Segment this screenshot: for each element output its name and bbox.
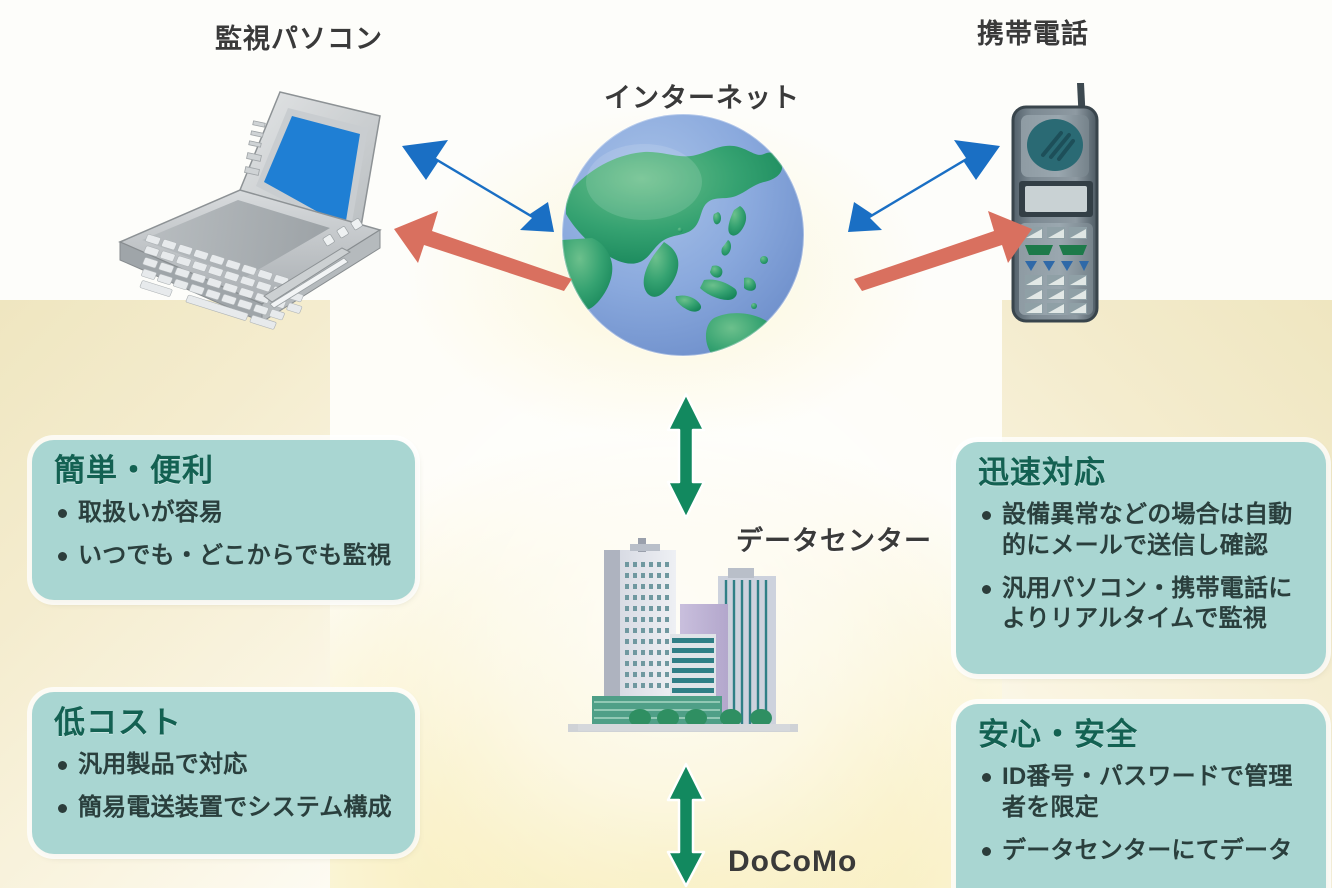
list-item: 汎用パソコン・携帯電話によりリアルタイムで監視 bbox=[978, 574, 1308, 635]
list-item: 取扱いが容易 bbox=[54, 498, 397, 529]
globe-earth-icon bbox=[558, 110, 808, 360]
feature-box-easy-bullets: 取扱いが容易 いつでも・どこからでも監視 bbox=[54, 498, 397, 571]
feature-box-easy-heading: 簡単・便利 bbox=[54, 454, 397, 488]
list-item: ID番号・パスワードで管理者を限定 bbox=[978, 762, 1308, 823]
arrow-internet-datacenter-green bbox=[664, 392, 708, 520]
feature-box-secure-heading: 安心・安全 bbox=[978, 718, 1308, 752]
feature-box-lowcost-heading: 低コスト bbox=[54, 706, 397, 740]
feature-box-fast-heading: 迅速対応 bbox=[978, 456, 1308, 490]
list-item: 簡易電送装置でシステム構成 bbox=[54, 793, 397, 824]
feature-box-lowcost[interactable]: 低コスト 汎用製品で対応 簡易電送装置でシステム構成 bbox=[32, 692, 415, 854]
label-monitor-pc: 監視パソコン bbox=[215, 17, 383, 56]
list-item: いつでも・どこからでも監視 bbox=[54, 541, 397, 572]
diagram-canvas: 監視パソコン 携帯電話 インターネット データセンター DoCoMo bbox=[0, 0, 1332, 888]
list-item: 設備異常などの場合は自動的にメールで送信し確認 bbox=[978, 500, 1308, 561]
list-item: データセンターにてデータ bbox=[978, 836, 1308, 867]
feature-box-fast-bullets: 設備異常などの場合は自動的にメールで送信し確認 汎用パソコン・携帯電話によりリア… bbox=[978, 500, 1308, 635]
feature-box-lowcost-bullets: 汎用製品で対応 簡易電送装置でシステム構成 bbox=[54, 750, 397, 823]
feature-box-easy[interactable]: 簡単・便利 取扱いが容易 いつでも・どこからでも監視 bbox=[32, 440, 415, 600]
arrow-datacenter-docomo-green bbox=[664, 762, 708, 888]
label-mobile-phone: 携帯電話 bbox=[977, 12, 1089, 51]
data-center-buildings-icon bbox=[568, 528, 798, 758]
feature-box-secure[interactable]: 安心・安全 ID番号・パスワードで管理者を限定 データセンターにてデータ bbox=[956, 704, 1326, 888]
feature-box-secure-bullets: ID番号・パスワードで管理者を限定 データセンターにてデータ bbox=[978, 762, 1308, 866]
label-docomo: DoCoMo bbox=[728, 845, 857, 879]
arrow-internet-pc-red bbox=[392, 205, 574, 291]
feature-box-fast[interactable]: 迅速対応 設備異常などの場合は自動的にメールで送信し確認 汎用パソコン・携帯電話… bbox=[956, 442, 1326, 674]
arrow-internet-phone-red bbox=[852, 205, 1034, 291]
laptop-computer-icon bbox=[112, 82, 392, 332]
list-item: 汎用製品で対応 bbox=[54, 750, 397, 781]
